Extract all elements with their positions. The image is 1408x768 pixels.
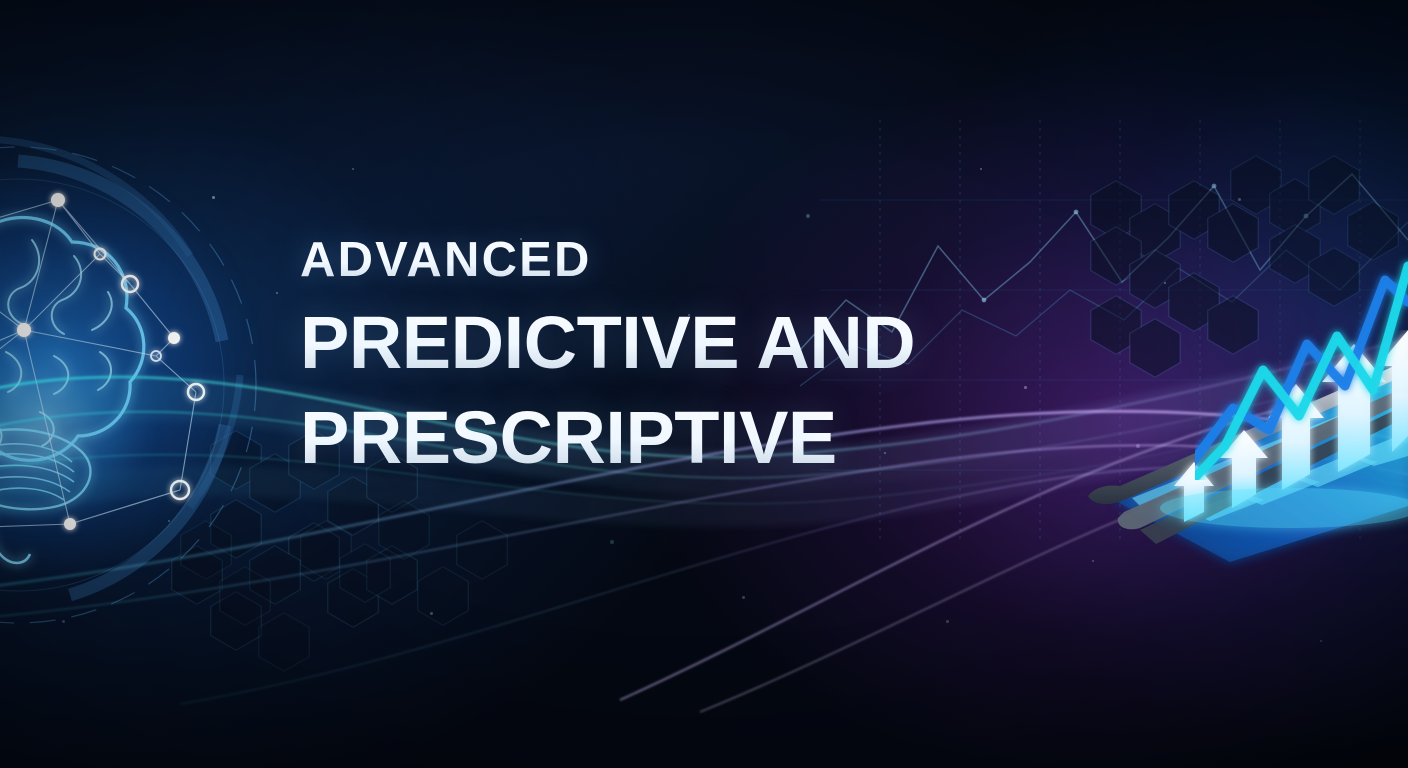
title-line-1: PREDICTIVE AND [300,307,915,380]
title-line-2: PRESCRIPTIVE [300,402,915,475]
hero-banner: ADVANCED PREDICTIVE AND PRESCRIPTIVE [0,0,1408,768]
headline-block: ADVANCED PREDICTIVE AND PRESCRIPTIVE [300,236,915,474]
kicker-text: ADVANCED [300,236,915,285]
